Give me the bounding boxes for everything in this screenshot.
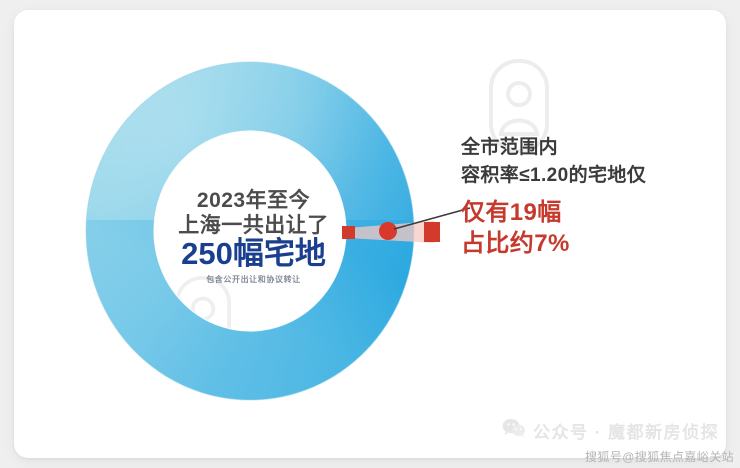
callout-red-line-1: 仅有19幅 — [461, 198, 711, 229]
attribution-text: 搜狐号@搜狐焦点嘉峪关站 — [585, 450, 734, 464]
callout-connector — [342, 206, 472, 258]
infographic-card: 2023年至今 上海一共出让了 250幅宅地 包含公开出让和协议转让 全市范围内… — [14, 10, 726, 458]
attribution-bar: 搜狐号@搜狐焦点嘉峪关站 — [0, 448, 740, 468]
center-line-1: 2023年至今 — [146, 190, 361, 211]
wechat-watermark-label: 公众号 · 魔都新房侦探 — [533, 418, 719, 443]
donut-center-label: 2023年至今 上海一共出让了 250幅宅地 包含公开出让和协议转让 — [146, 190, 361, 284]
wechat-icon — [502, 418, 526, 443]
callout-head-line-1: 全市范围内 — [461, 134, 711, 162]
wechat-watermark: 公众号 · 魔都新房侦探 — [502, 418, 719, 443]
callout-head-line-2: 容积率≤1.20的宅地仅 — [461, 162, 711, 190]
center-note: 包含公开出让和协议转让 — [146, 276, 361, 284]
center-headline: 250幅宅地 — [146, 238, 361, 269]
center-line-2: 上海一共出让了 — [146, 215, 361, 236]
callout-red-line-2: 占比约7% — [461, 229, 711, 260]
callout-text-block: 全市范围内 容积率≤1.20的宅地仅 仅有19幅 占比约7% — [461, 134, 711, 260]
